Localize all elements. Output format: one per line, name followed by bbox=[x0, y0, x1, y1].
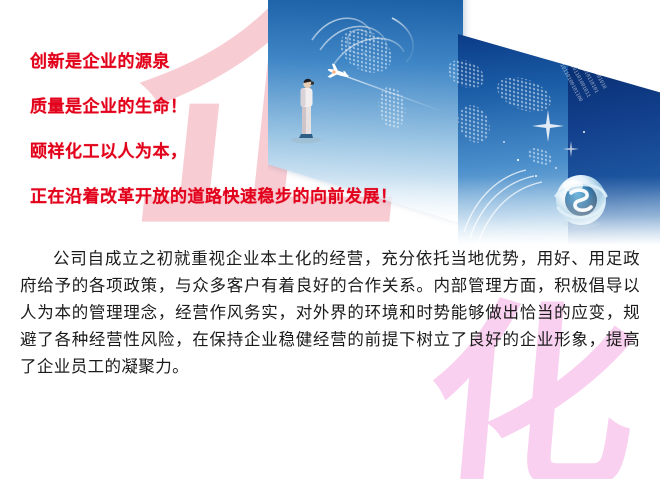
slogan-line-3: 颐祥化工以人为本， bbox=[30, 144, 480, 161]
slogan-headline-group: 创新是企业的源泉 质量是企业的生命！ 颐祥化工以人为本， 正在沿着改革开放的道路… bbox=[30, 54, 480, 206]
company-profile-page: 企 bbox=[0, 0, 660, 479]
company-description-paragraph: 公司自成立之初就重视企业本土化的经营，充分依托当地优势，用好、用足政府给予的各项… bbox=[20, 245, 640, 380]
slogan-line-2: 质量是企业的生命！ bbox=[30, 99, 480, 116]
slogan-line-4: 正在沿着改革开放的道路快速稳步的向前发展！ bbox=[30, 189, 480, 206]
slogan-line-1: 创新是企业的源泉 bbox=[30, 54, 480, 71]
